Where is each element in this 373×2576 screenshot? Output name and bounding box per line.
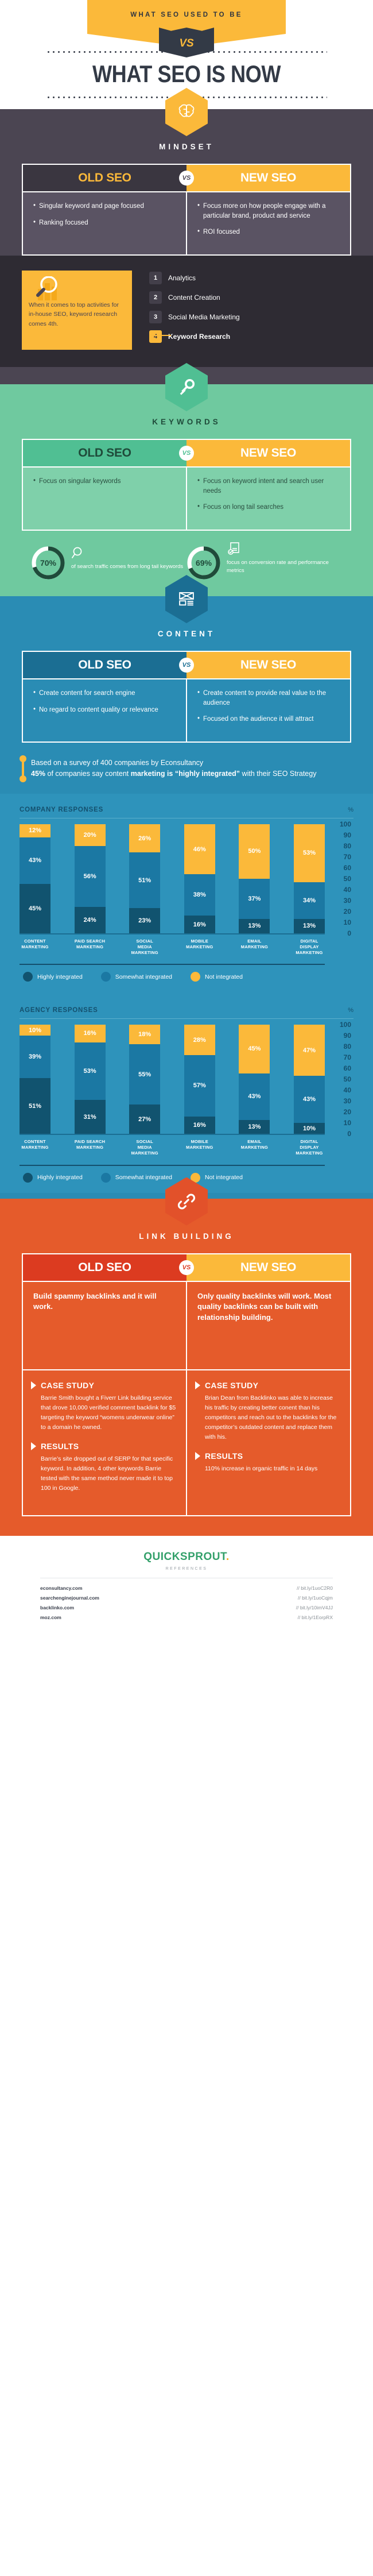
old-case-body: Barrie Smith bought a Fiverr Link buildi… bbox=[31, 1393, 177, 1432]
page-title: WHAT SEO IS NOW bbox=[26, 60, 347, 88]
y-axis: 1009080706050403020100 bbox=[329, 1025, 353, 1134]
bar-segment: 46% bbox=[184, 824, 215, 874]
y-axis-tick: 70 bbox=[344, 853, 351, 861]
x-axis-tick-label: SOCIAL MEDIAMARKETING bbox=[129, 1139, 160, 1156]
new-results-title: RESULTS bbox=[205, 1451, 243, 1461]
stat-description: of search traffic comes from long tail k… bbox=[71, 563, 183, 570]
y-axis-tick: 30 bbox=[344, 897, 351, 905]
bar-segment: 51% bbox=[20, 1078, 50, 1134]
legend-color-swatch bbox=[101, 972, 111, 982]
infographic-page: WHAT SEO USED TO BE VS WHAT SEO IS NOW M… bbox=[0, 0, 373, 1630]
magnifier-bar-chart-icon bbox=[30, 276, 64, 307]
chart-title: AGENCY RESPONSES bbox=[20, 1007, 98, 1014]
callout-connector-line bbox=[154, 335, 171, 336]
bar-segment: 37% bbox=[239, 879, 270, 919]
keywords-stats: 70% of search traffic comes from long ta… bbox=[0, 531, 373, 580]
reference-url[interactable]: // bit.ly/1EorpRX bbox=[298, 1615, 333, 1620]
stacked-bar: 18%55%27% bbox=[129, 1025, 160, 1134]
reference-list: econsultancy.com// bit.ly/1uoC2R0searche… bbox=[0, 1585, 373, 1620]
old-case-heading: CASE STUDY bbox=[31, 1381, 177, 1390]
survey-line-2d: with their SEO Strategy bbox=[240, 770, 316, 778]
section-keywords: KEYWORDS OLD SEO NEW SEO VS Focus on sin… bbox=[0, 384, 373, 596]
stat-text-wrap: of search traffic comes from long tail k… bbox=[71, 555, 183, 571]
donut-chart-69: 69% bbox=[187, 546, 221, 580]
list-item: 1 Analytics bbox=[149, 272, 351, 284]
y-axis: 1009080706050403020100 bbox=[329, 824, 353, 933]
case-study-row: CASE STUDY Barrie Smith bought a Fiverr … bbox=[23, 1369, 350, 1515]
brand-name: QUICKSPROUT bbox=[143, 1551, 226, 1563]
y-axis-tick: 90 bbox=[344, 1032, 351, 1040]
mindset-new-label: NEW SEO bbox=[187, 165, 350, 191]
stacked-bar: 47%43%10% bbox=[294, 1025, 325, 1134]
arrow-right-icon bbox=[195, 1452, 200, 1460]
arrow-right-icon bbox=[195, 1381, 200, 1389]
keywords-old-label: OLD SEO bbox=[23, 440, 187, 466]
bar-segment: 55% bbox=[129, 1044, 160, 1104]
link-vs-badge: VS bbox=[179, 1260, 194, 1275]
survey-line-2c: marketing is “highly integrated” bbox=[131, 770, 240, 778]
list-item: Focus on singular keywords bbox=[33, 477, 176, 486]
bar-segment: 27% bbox=[129, 1104, 160, 1134]
y-axis-tick: 80 bbox=[344, 1042, 351, 1051]
list-item: Singular keyword and page focused bbox=[33, 202, 176, 211]
bar-segment: 43% bbox=[239, 1073, 270, 1120]
legend-item: Not integrated bbox=[191, 1173, 243, 1183]
stat-description: focus on conversion rate and performance… bbox=[227, 559, 329, 574]
rank-number: 1 bbox=[149, 272, 162, 284]
x-axis-tick-label: EMAILMARKETING bbox=[239, 939, 270, 956]
chart-plot: 10%39%51%16%53%31%18%55%27%28%57%16%45%4… bbox=[20, 1025, 353, 1134]
references-label: REFERENCES bbox=[0, 1567, 373, 1571]
bar-segment: 16% bbox=[184, 1117, 215, 1134]
link-old-lead: Build spammy backlinks and it will work. bbox=[33, 1291, 176, 1359]
reference-item[interactable]: moz.com// bit.ly/1EorpRX bbox=[40, 1615, 333, 1620]
hero-banner-wrap: WHAT SEO USED TO BE VS bbox=[0, 0, 373, 47]
bar-group: 12%43%45%20%56%24%26%51%23%46%38%16%50%3… bbox=[20, 824, 325, 933]
bar-segment: 26% bbox=[129, 824, 160, 852]
content-vs-badge: VS bbox=[179, 658, 194, 673]
content-compare-body: Create content for search engine No rega… bbox=[23, 678, 350, 741]
bar-segment: 18% bbox=[129, 1025, 160, 1044]
list-item: ROI focused bbox=[197, 227, 340, 237]
list-item: Focus more on how people engage with a p… bbox=[197, 202, 340, 221]
mindset-vs-badge: VS bbox=[179, 171, 194, 186]
old-results-body: Barrie’s site dropped out of SERP for th… bbox=[31, 1454, 177, 1493]
stacked-bar: 12%43%45% bbox=[20, 824, 50, 933]
y-axis-tick: 50 bbox=[344, 1075, 351, 1083]
hero-banner-label: WHAT SEO USED TO BE bbox=[130, 11, 242, 18]
footer-divider bbox=[40, 1578, 333, 1578]
survey-line-2b: of companies say content bbox=[45, 770, 131, 778]
stat-value: 70% bbox=[31, 546, 65, 580]
stacked-bar: 45%43%13% bbox=[239, 1025, 270, 1134]
survey-text: Based on a survey of 400 companies by Ec… bbox=[31, 758, 316, 780]
reference-name: searchenginejournal.com bbox=[40, 1595, 99, 1601]
y-axis-tick: 90 bbox=[344, 831, 351, 839]
x-axis-labels: CONTENTMARKETINGPAID SEARCHMARKETINGSOCI… bbox=[20, 934, 325, 956]
chart-company-responses: COMPANY RESPONSES % 12%43%45%20%56%24%26… bbox=[0, 794, 373, 992]
chart-rule bbox=[20, 818, 353, 818]
reference-name: econsultancy.com bbox=[40, 1585, 83, 1591]
bar-segment: 23% bbox=[129, 908, 160, 933]
bar-segment: 28% bbox=[184, 1025, 215, 1055]
legend-color-swatch bbox=[23, 972, 33, 982]
bar-segment: 16% bbox=[184, 916, 215, 933]
y-axis-tick: 0 bbox=[347, 1130, 351, 1138]
brand-logo: QUICKSPROUT. bbox=[0, 1551, 373, 1563]
list-item: Ranking focused bbox=[33, 218, 176, 228]
new-case-column: CASE STUDY Brian Dean from Backlinko was… bbox=[187, 1370, 350, 1515]
y-axis-tick: 70 bbox=[344, 1053, 351, 1061]
bar-segment: 39% bbox=[20, 1036, 50, 1078]
section-content: CONTENT OLD SEO NEW SEO VS Create conten… bbox=[0, 596, 373, 1199]
bar-segment: 53% bbox=[294, 824, 325, 882]
survey-callout: Based on a survey of 400 companies by Ec… bbox=[22, 758, 351, 780]
bar-segment: 45% bbox=[20, 884, 50, 933]
legend-item: Highly integrated bbox=[23, 1173, 83, 1183]
bar-segment: 34% bbox=[294, 882, 325, 920]
x-axis-tick-label: EMAILMARKETING bbox=[239, 1139, 270, 1156]
stacked-bar: 53%34%13% bbox=[294, 824, 325, 933]
y-axis-tick: 10 bbox=[344, 1119, 351, 1127]
reference-url[interactable]: // bit.ly/1uoCqjm bbox=[298, 1595, 333, 1601]
link-compare-table: OLD SEO NEW SEO VS Build spammy backlink… bbox=[22, 1253, 351, 1516]
legend-item: Somewhat integrated bbox=[101, 972, 172, 982]
report-check-icon bbox=[227, 542, 242, 559]
reference-url[interactable]: // bit.ly/1uoC2R0 bbox=[297, 1585, 333, 1591]
bar-segment: 50% bbox=[239, 824, 270, 879]
link-new-label: NEW SEO bbox=[187, 1254, 350, 1281]
chart-header: COMPANY RESPONSES % bbox=[20, 806, 353, 813]
legend-color-swatch bbox=[23, 1173, 33, 1183]
list-item: Create content to provide real value to … bbox=[197, 689, 340, 708]
hero-vs-label: VS bbox=[179, 37, 193, 50]
old-results-title: RESULTS bbox=[41, 1442, 79, 1451]
chart-title: COMPANY RESPONSES bbox=[20, 806, 103, 813]
bar-segment: 13% bbox=[294, 919, 325, 933]
y-axis-tick: 40 bbox=[344, 1086, 351, 1094]
x-axis-tick-label: PAID SEARCHMARKETING bbox=[75, 939, 106, 956]
y-axis-tick: 40 bbox=[344, 886, 351, 894]
new-case-body: Brian Dean from Backlinko was able to in… bbox=[195, 1393, 341, 1442]
bar-segment: 10% bbox=[20, 1025, 50, 1036]
link-lead-row: Build spammy backlinks and it will work.… bbox=[23, 1281, 350, 1369]
bar-segment: 51% bbox=[129, 852, 160, 908]
mindset-compare-table: OLD SEO NEW SEO VS Singular keyword and … bbox=[22, 164, 351, 256]
link-old-label: OLD SEO bbox=[23, 1254, 187, 1281]
link-new-lead-col: Only quality backlinks will work. Most q… bbox=[187, 1282, 350, 1369]
y-axis-tick: 60 bbox=[344, 864, 351, 872]
new-results-heading: RESULTS bbox=[195, 1451, 341, 1461]
legend-label: Highly integrated bbox=[37, 974, 83, 980]
x-axis-labels: CONTENTMARKETINGPAID SEARCHMARKETINGSOCI… bbox=[20, 1135, 325, 1156]
y-axis-tick: 20 bbox=[344, 1108, 351, 1116]
x-axis-tick-label: PAID SEARCHMARKETING bbox=[75, 1139, 106, 1156]
x-axis-tick-label: CONTENTMARKETING bbox=[20, 939, 50, 956]
y-axis-tick: 50 bbox=[344, 875, 351, 883]
x-axis-tick-label: SOCIAL MEDIAMARKETING bbox=[129, 939, 160, 956]
chart-legend: Highly integratedSomewhat integratedNot … bbox=[23, 972, 353, 982]
bar-segment: 16% bbox=[75, 1025, 106, 1042]
content-old-label: OLD SEO bbox=[23, 652, 187, 678]
bar-segment: 38% bbox=[184, 874, 215, 916]
magnifier-icon bbox=[71, 546, 86, 563]
top-activities-list: 1 Analytics 2 Content Creation 3 Social … bbox=[132, 271, 351, 350]
stacked-bar: 28%57%16% bbox=[184, 1025, 215, 1134]
bar-group: 10%39%51%16%53%31%18%55%27%28%57%16%45%4… bbox=[20, 1025, 325, 1134]
survey-line-1: Based on a survey of 400 companies by Ec… bbox=[31, 759, 203, 767]
section-link-building: LINK BUILDING OLD SEO NEW SEO VS Build s… bbox=[0, 1199, 373, 1536]
mindset-old-column: Singular keyword and page focused Rankin… bbox=[23, 192, 187, 254]
legend-label: Highly integrated bbox=[37, 1174, 83, 1181]
content-compare-table: OLD SEO NEW SEO VS Create content for se… bbox=[22, 651, 351, 743]
rank-label: Analytics bbox=[168, 274, 196, 282]
list-item: Create content for search engine bbox=[33, 689, 176, 698]
bar-segment: 13% bbox=[239, 1120, 270, 1134]
old-case-title: CASE STUDY bbox=[41, 1381, 94, 1390]
x-axis-tick-label: MOBILEMARKETING bbox=[184, 1139, 215, 1156]
list-item-highlighted: 4 Keyword Research bbox=[149, 330, 351, 343]
x-axis-tick-label: MOBILEMARKETING bbox=[184, 939, 215, 956]
survey-percent: 45% bbox=[31, 770, 45, 778]
stacked-bar: 46%38%16% bbox=[184, 824, 215, 933]
stacked-bar: 20%56%24% bbox=[75, 824, 106, 933]
legend-label: Not integrated bbox=[205, 1174, 243, 1181]
stacked-bar: 50%37%13% bbox=[239, 824, 270, 933]
legend-label: Not integrated bbox=[205, 974, 243, 980]
reference-url[interactable]: // bit.ly/10imV4JJ bbox=[296, 1605, 333, 1611]
legend-item: Not integrated bbox=[191, 972, 243, 982]
bar-segment: 43% bbox=[20, 837, 50, 885]
list-item: Focus on long tail searches bbox=[197, 503, 340, 512]
rank-label: Social Media Marketing bbox=[168, 313, 240, 321]
chart-unit: % bbox=[348, 806, 353, 813]
rank-label: Keyword Research bbox=[168, 333, 230, 341]
x-axis-tick-label: DIGITAL DISPLAYMARKETING bbox=[294, 939, 325, 956]
y-axis-tick: 30 bbox=[344, 1097, 351, 1105]
content-old-column: Create content for search engine No rega… bbox=[23, 679, 187, 741]
bar-segment: 43% bbox=[294, 1076, 325, 1123]
bar-segment: 45% bbox=[239, 1025, 270, 1073]
reference-item[interactable]: econsultancy.com// bit.ly/1uoC2R0 bbox=[40, 1585, 333, 1591]
bar-segment: 10% bbox=[294, 1123, 325, 1134]
legend-divider bbox=[20, 964, 325, 965]
old-results-heading: RESULTS bbox=[31, 1442, 177, 1451]
footer: QUICKSPROUT. REFERENCES econsultancy.com… bbox=[0, 1536, 373, 1630]
stacked-bar: 16%53%31% bbox=[75, 1025, 106, 1134]
section-mindset: MINDSET OLD SEO NEW SEO VS Singular keyw… bbox=[0, 109, 373, 384]
y-axis-tick: 100 bbox=[340, 820, 351, 828]
stat-text-wrap: focus on conversion rate and performance… bbox=[227, 551, 342, 576]
keywords-old-column: Focus on singular keywords bbox=[23, 468, 187, 530]
legend-divider bbox=[20, 1165, 325, 1166]
stat-conversion: 69% focus on conversion rate and perform… bbox=[187, 546, 342, 580]
list-item: 2 Content Creation bbox=[149, 291, 351, 304]
keywords-compare-body: Focus on singular keywords Focus on keyw… bbox=[23, 466, 350, 530]
rank-number: 2 bbox=[149, 291, 162, 304]
bar-segment: 31% bbox=[75, 1100, 106, 1134]
stat-value: 69% bbox=[187, 546, 221, 580]
bar-segment: 20% bbox=[75, 824, 106, 846]
legend-item: Highly integrated bbox=[23, 972, 83, 982]
keywords-new-column: Focus on keyword intent and search user … bbox=[187, 468, 350, 530]
mindset-ranking-block: When it comes to top activities for in-h… bbox=[0, 256, 373, 367]
bar-segment: 12% bbox=[20, 824, 50, 837]
chart-agency-responses: AGENCY RESPONSES % 10%39%51%16%53%31%18%… bbox=[0, 992, 373, 1192]
bar-segment: 56% bbox=[75, 846, 106, 907]
list-item: Focused on the audience it will attract bbox=[197, 715, 340, 724]
legend-label: Somewhat integrated bbox=[115, 974, 172, 980]
donut-chart-70: 70% bbox=[31, 546, 65, 580]
reference-name: moz.com bbox=[40, 1615, 61, 1620]
chart-unit: % bbox=[348, 1007, 353, 1014]
y-axis-tick: 10 bbox=[344, 918, 351, 926]
content-new-column: Create content to provide real value to … bbox=[187, 679, 350, 741]
y-axis-tick: 80 bbox=[344, 842, 351, 850]
arrow-right-icon bbox=[31, 1442, 36, 1450]
new-results-body: 110% increase in organic traffic in 14 d… bbox=[195, 1464, 341, 1474]
keyword-research-callout: When it comes to top activities for in-h… bbox=[22, 271, 132, 350]
list-item: 3 Social Media Marketing bbox=[149, 311, 351, 323]
legend-color-swatch bbox=[101, 1173, 111, 1183]
chart-rule bbox=[20, 1018, 353, 1019]
old-case-column: CASE STUDY Barrie Smith bought a Fiverr … bbox=[23, 1370, 187, 1515]
link-old-lead-col: Build spammy backlinks and it will work. bbox=[23, 1282, 187, 1369]
new-case-title: CASE STUDY bbox=[205, 1381, 258, 1390]
link-new-lead: Only quality backlinks will work. Most q… bbox=[197, 1291, 340, 1359]
y-axis-tick: 20 bbox=[344, 907, 351, 916]
rank-number: 3 bbox=[149, 311, 162, 323]
bar-segment: 47% bbox=[294, 1025, 325, 1076]
x-axis-tick-label: CONTENTMARKETING bbox=[20, 1139, 50, 1156]
stat-long-tail: 70% of search traffic comes from long ta… bbox=[31, 546, 187, 580]
list-item: No regard to content quality or relevanc… bbox=[33, 705, 176, 715]
y-axis-tick: 60 bbox=[344, 1064, 351, 1072]
reference-name: backlinko.com bbox=[40, 1605, 74, 1611]
legend-color-swatch bbox=[191, 972, 200, 982]
content-new-label: NEW SEO bbox=[187, 652, 350, 678]
legend-item: Somewhat integrated bbox=[101, 1173, 172, 1183]
x-axis-tick-label: DIGITAL DISPLAYMARKETING bbox=[294, 1139, 325, 1156]
new-case-heading: CASE STUDY bbox=[195, 1381, 341, 1390]
mindset-new-column: Focus more on how people engage with a p… bbox=[187, 192, 350, 254]
bar-segment: 53% bbox=[75, 1042, 106, 1100]
rank-number: 4 bbox=[149, 330, 162, 343]
chart-plot: 12%43%45%20%56%24%26%51%23%46%38%16%50%3… bbox=[20, 824, 353, 933]
mindset-old-label: OLD SEO bbox=[23, 165, 187, 191]
mindset-compare-body: Singular keyword and page focused Rankin… bbox=[23, 191, 350, 254]
keywords-compare-table: OLD SEO NEW SEO VS Focus on singular key… bbox=[22, 439, 351, 531]
reference-item[interactable]: backlinko.com// bit.ly/10imV4JJ bbox=[40, 1605, 333, 1611]
bar-segment: 24% bbox=[75, 907, 106, 933]
keywords-vs-badge: VS bbox=[179, 446, 194, 461]
rank-label: Content Creation bbox=[168, 293, 220, 302]
y-axis-tick: 0 bbox=[347, 929, 351, 937]
survey-rail bbox=[22, 758, 24, 780]
keywords-new-label: NEW SEO bbox=[187, 440, 350, 466]
brand-dot: . bbox=[226, 1551, 230, 1563]
list-item: Focus on keyword intent and search user … bbox=[197, 477, 340, 496]
bar-segment: 13% bbox=[239, 919, 270, 933]
y-axis-tick: 100 bbox=[340, 1021, 351, 1029]
legend-label: Somewhat integrated bbox=[115, 1174, 172, 1181]
arrow-right-icon bbox=[31, 1381, 36, 1389]
bar-segment: 57% bbox=[184, 1055, 215, 1117]
chart-header: AGENCY RESPONSES % bbox=[20, 1007, 353, 1014]
reference-item[interactable]: searchenginejournal.com// bit.ly/1uoCqjm bbox=[40, 1595, 333, 1601]
stacked-bar: 10%39%51% bbox=[20, 1025, 50, 1134]
stacked-bar: 26%51%23% bbox=[129, 824, 160, 933]
